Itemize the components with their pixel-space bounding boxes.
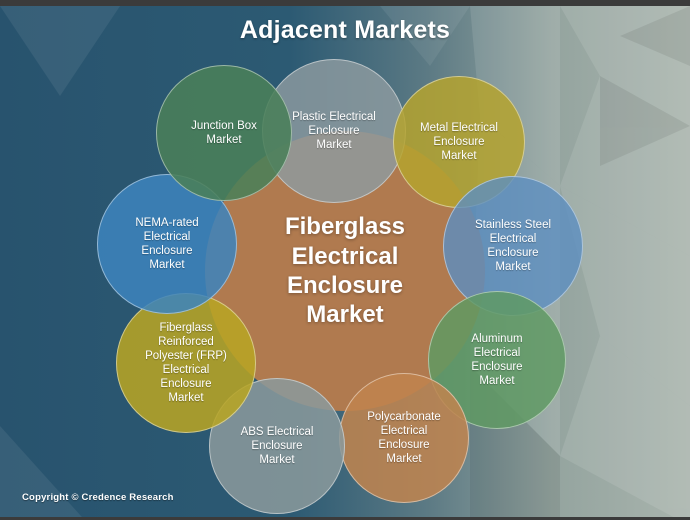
node-label: Junction Box Market xyxy=(185,119,263,147)
node-label: Stainless Steel Electrical Enclosure Mar… xyxy=(469,218,557,274)
node-label: Fiberglass Reinforced Polyester (FRP) El… xyxy=(139,321,233,405)
node-label: NEMA-rated Electrical Enclosure Market xyxy=(129,216,204,272)
node-label: Polycarbonate Electrical Enclosure Marke… xyxy=(361,410,447,466)
venn-diagram: Fiberglass Electrical Enclosure Market P… xyxy=(0,6,690,520)
node-label: Aluminum Electrical Enclosure Market xyxy=(465,332,528,388)
node-label: ABS Electrical Enclosure Market xyxy=(235,425,320,467)
node-junction-box-market[interactable]: Junction Box Market xyxy=(156,65,292,201)
diagram-canvas: Adjacent Markets Fiberglass Electrical E… xyxy=(0,0,690,520)
node-label: Plastic Electrical Enclosure Market xyxy=(286,110,382,152)
center-node-label: Fiberglass Electrical Enclosure Market xyxy=(285,212,405,329)
node-polycarbonate-electrical-enclosure-market[interactable]: Polycarbonate Electrical Enclosure Marke… xyxy=(339,373,469,503)
node-fiberglass-reinforced-polyester-frp-electrical-enclosure-market[interactable]: Fiberglass Reinforced Polyester (FRP) El… xyxy=(116,293,256,433)
node-label: Metal Electrical Enclosure Market xyxy=(414,121,504,163)
copyright-footer: Copyright © Credence Research xyxy=(22,492,174,503)
page-title: Adjacent Markets xyxy=(0,16,690,45)
